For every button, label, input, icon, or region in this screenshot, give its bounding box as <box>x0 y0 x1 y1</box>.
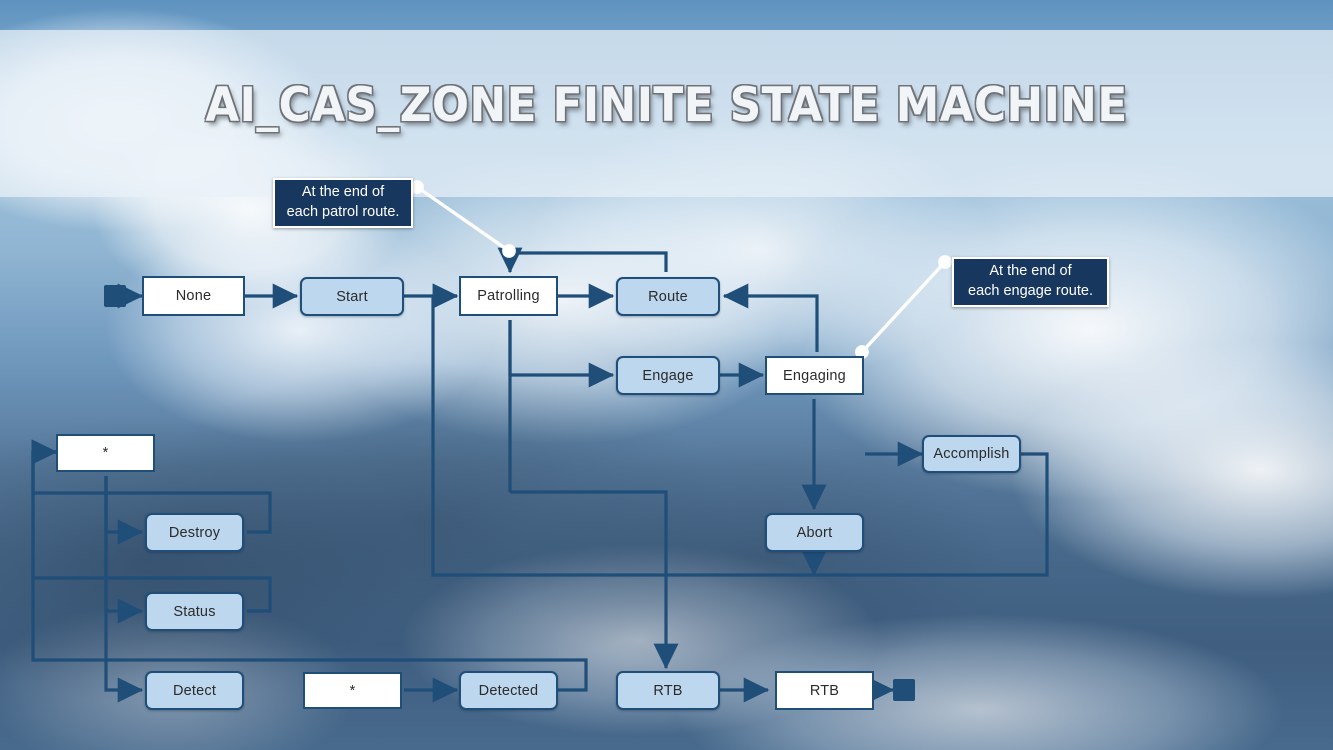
state-node-rtb-blue[interactable]: RTB <box>616 671 720 710</box>
node-label: Destroy <box>169 525 220 541</box>
state-node-destroy[interactable]: Destroy <box>145 513 244 552</box>
state-node-start[interactable]: Start <box>300 277 404 316</box>
callout-leader-lines <box>412 182 950 357</box>
state-node-abort[interactable]: Abort <box>765 513 864 552</box>
state-node-detected[interactable]: Detected <box>459 671 558 710</box>
node-label: Detected <box>479 683 539 699</box>
callout-line-2: each patrol route. <box>287 203 400 223</box>
callout-line-2: each engage route. <box>968 282 1093 302</box>
node-label: Start <box>336 289 368 305</box>
node-label: Route <box>648 289 688 305</box>
node-label: Patrolling <box>477 288 539 304</box>
state-node-any-top[interactable]: * <box>56 434 155 472</box>
callout-patrol-note[interactable]: At the end of each patrol route. <box>273 178 413 228</box>
state-node-none[interactable]: None <box>142 276 245 316</box>
node-label: Engage <box>642 368 693 384</box>
state-node-status[interactable]: Status <box>145 592 244 631</box>
callout-line-1: At the end of <box>968 262 1093 282</box>
node-label: * <box>350 683 356 699</box>
node-label: Detect <box>173 683 216 699</box>
callout-engage-note[interactable]: At the end of each engage route. <box>952 257 1109 307</box>
start-terminal <box>104 285 126 307</box>
callout-line-1: At the end of <box>287 183 400 203</box>
node-label: RTB <box>810 683 839 699</box>
node-label: RTB <box>653 683 682 699</box>
node-label: Engaging <box>783 368 846 384</box>
state-node-engage[interactable]: Engage <box>616 356 720 395</box>
node-label: Abort <box>797 525 833 541</box>
state-node-any-bottom[interactable]: * <box>303 672 402 709</box>
slide-canvas: AI_CAS_ZONE FINITE STATE MACHINE <box>0 0 1333 750</box>
state-node-patrolling[interactable]: Patrolling <box>459 276 558 316</box>
state-node-route[interactable]: Route <box>616 277 720 316</box>
state-node-engaging[interactable]: Engaging <box>765 356 864 395</box>
node-label: Status <box>173 604 215 620</box>
node-label: None <box>176 288 211 304</box>
node-label: Accomplish <box>933 446 1009 462</box>
state-node-detect[interactable]: Detect <box>145 671 244 710</box>
state-node-rtb-white[interactable]: RTB <box>775 671 874 710</box>
end-terminal <box>893 679 915 701</box>
node-label: * <box>103 445 109 461</box>
state-node-accomplish[interactable]: Accomplish <box>922 435 1021 473</box>
